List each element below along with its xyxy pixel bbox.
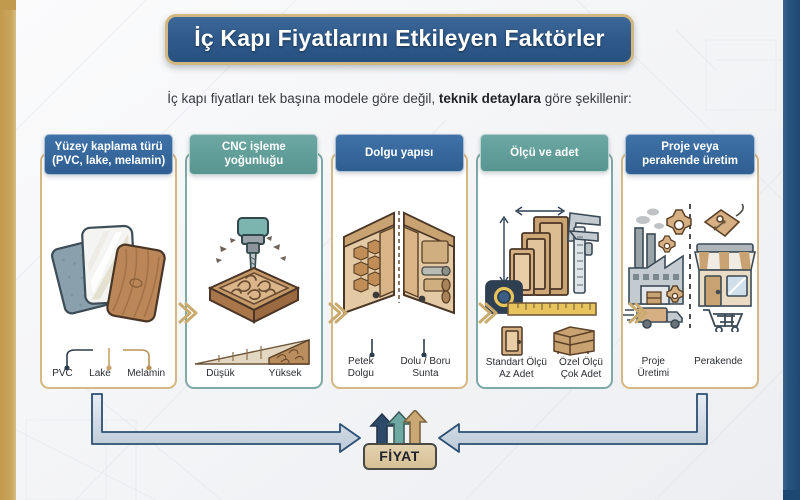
legend-item-perakende: Perakende <box>694 356 742 368</box>
legend-item-dusuk: Düşük <box>206 368 234 380</box>
factor-column-size-quantity[interactable]: Ölçü ve adet <box>476 134 613 389</box>
factor-column-cnc-density[interactable]: CNC işleme yoğunluğu <box>185 134 322 389</box>
door-core-cutaway-icon <box>331 172 468 356</box>
column-header-fill-structure: Dolgu yapısı <box>335 134 464 172</box>
subtitle-text-before: İç kapı fiyatları tek başına modele göre… <box>167 91 439 106</box>
page-edge-gold <box>0 0 16 500</box>
legend-surface-coating: PVC Lake Melamin <box>40 368 177 389</box>
column-header-surface-coating: Yüzey kaplama türü (PVC, lake, melamin) <box>44 134 173 175</box>
factor-column-surface-coating[interactable]: Yüzey kaplama türü (PVC, lake, melamin) <box>40 134 177 389</box>
factory-and-shop-icon <box>621 175 759 356</box>
legend-item-ozel-olcu: Özel Ölçü Çok Adet <box>559 357 603 381</box>
step-arrow-3 <box>478 300 500 326</box>
column-header-project-or-retail: Proje veya perakende üretim <box>625 134 755 175</box>
page-title: İç Kapı Fiyatlarını Etkileyen Faktörler <box>194 25 604 52</box>
page-edge-navy <box>783 0 800 500</box>
legend-item-petek-dolgu: Petek Dolgu <box>348 356 374 380</box>
price-result: FİYAT <box>363 410 437 470</box>
legend-item-yuksek: Yüksek <box>269 368 302 380</box>
factor-column-project-or-retail[interactable]: Proje veya perakende üretim <box>621 134 759 389</box>
column-header-cnc-density: CNC işleme yoğunluğu <box>189 134 318 175</box>
legend-item-standart-olcu: Standart Ölçü Az Adet <box>486 357 547 381</box>
column-header-size-quantity: Ölçü ve adet <box>480 134 609 172</box>
legend-item-proje-uretimi: Proje Üretimi <box>637 356 669 380</box>
quantity-icons <box>484 323 604 357</box>
legend-cnc-density: Düşük Yüksek <box>185 368 322 389</box>
step-arrow-2 <box>328 300 350 326</box>
subtitle-emphasis: teknik detaylara <box>439 91 541 106</box>
density-gradient-wedge <box>189 338 319 368</box>
content-sheet: İç Kapı Fiyatlarını Etkileyen Faktörler … <box>16 0 783 500</box>
coating-swatches-icon <box>40 175 177 368</box>
legend-item-dolu-boru-sunta: Dolu / Boru Sunta <box>400 356 450 380</box>
legend-size-quantity: Standart Ölçü Az Adet Özel Ölçü Çok Adet <box>476 357 613 389</box>
price-label: FİYAT <box>363 443 437 470</box>
infographic-page: İç Kapı Fiyatlarını Etkileyen Faktörler … <box>0 0 800 500</box>
step-arrow-1 <box>178 300 200 326</box>
price-flow: FİYAT <box>40 392 759 464</box>
step-arrow-4 <box>628 300 650 326</box>
rising-arrows-icon <box>363 410 437 444</box>
legend-project-or-retail: Proje Üretimi Perakende <box>621 356 759 389</box>
connector-lines <box>49 344 169 370</box>
title-banner: İç Kapı Fiyatlarını Etkileyen Faktörler <box>16 14 783 65</box>
legend-fill-structure: Petek Dolgu Dolu / Boru Sunta <box>331 356 468 389</box>
subtitle-text-after: göre şekillenir: <box>541 91 632 106</box>
factor-column-fill-structure[interactable]: Dolgu yapısı <box>331 134 468 389</box>
factor-columns: Yüzey kaplama türü (PVC, lake, melamin) <box>40 134 759 389</box>
connector-lines <box>344 337 454 357</box>
page-subtitle: İç kapı fiyatları tek başına modele göre… <box>16 91 783 106</box>
